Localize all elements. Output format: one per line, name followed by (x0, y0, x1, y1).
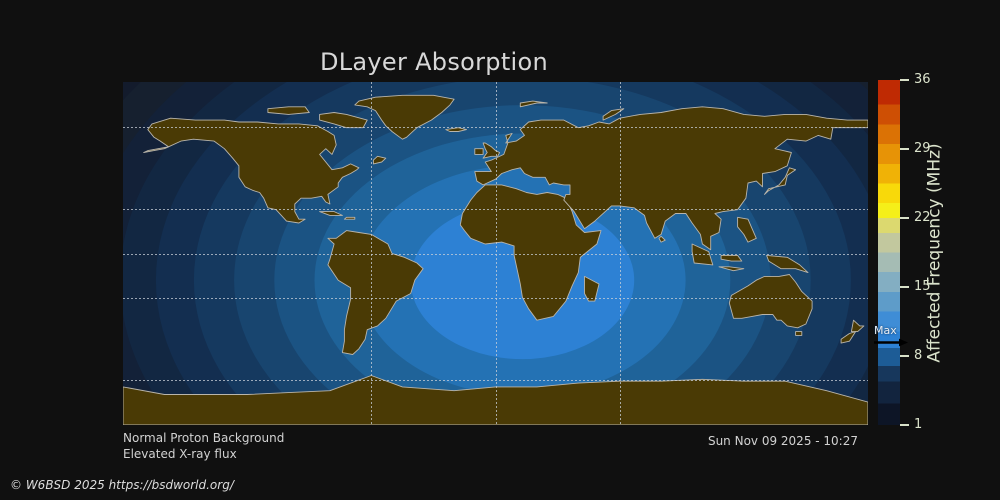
colorbar-tick-mark (900, 217, 909, 219)
colorbar-axis-label: Affected Frequency (MHz) (922, 70, 948, 435)
page-title: DLayer Absorption (0, 48, 868, 76)
dlayer-absorption-map-page: DLayer Absorption 3629221581 Affected Fr… (0, 0, 1000, 500)
max-marker: Max (872, 325, 908, 347)
max-marker-label: Max (874, 325, 897, 336)
graticule-meridian (371, 82, 372, 425)
colorbar-tick-mark (900, 286, 909, 288)
world-map[interactable] (123, 82, 868, 425)
timestamp-text: Sun Nov 09 2025 - 10:27 (0, 434, 858, 448)
colorbar-tick-mark (900, 79, 909, 81)
landmass (475, 149, 483, 155)
max-arrow-icon (874, 338, 908, 347)
graticule-meridian (620, 82, 621, 425)
colorbar[interactable] (878, 80, 900, 425)
landmass (796, 332, 802, 336)
landmass (344, 217, 354, 219)
colorbar-gradient (878, 80, 900, 425)
colorbar-tick-mark (900, 355, 909, 357)
landmass (268, 107, 309, 115)
colorbar-tick-mark (900, 148, 909, 150)
colorbar-axis-label-text: Affected Frequency (MHz) (925, 143, 945, 362)
colorbar-tick-mark (900, 424, 909, 426)
xray-status-text: Elevated X-ray flux (123, 446, 284, 462)
footer-credit: © W6BSD 2025 https://bsdworld.org/ (10, 478, 234, 492)
graticule-meridian (496, 82, 497, 425)
